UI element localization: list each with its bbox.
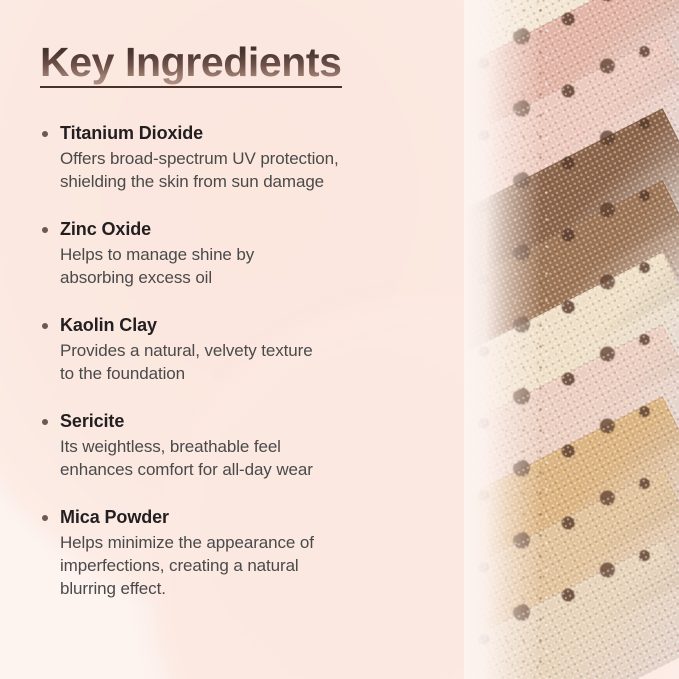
bullet-icon	[42, 419, 48, 425]
ingredient-description: Helps minimize the appearance of imperfe…	[60, 531, 470, 600]
bullet-icon	[42, 227, 48, 233]
ingredient-description: Provides a natural, velvety texture to t…	[60, 339, 470, 385]
ingredient-name: Zinc Oxide	[60, 218, 470, 242]
ingredient-name: Kaolin Clay	[60, 314, 470, 338]
ingredient-item: SericiteIts weightless, breathable feel …	[40, 410, 470, 481]
bullet-icon	[42, 323, 48, 329]
ingredient-name: Titanium Dioxide	[60, 122, 470, 146]
ingredient-name: Mica Powder	[60, 506, 470, 530]
text-column: Key Ingredients Titanium DioxideOffers b…	[40, 0, 470, 600]
bullet-icon	[42, 131, 48, 137]
ingredient-item: Mica PowderHelps minimize the appearance…	[40, 506, 470, 600]
ingredient-name: Sericite	[60, 410, 470, 434]
ingredient-item: Kaolin ClayProvides a natural, velvety t…	[40, 314, 470, 385]
page-title: Key Ingredients	[40, 40, 342, 85]
ingredient-item: Titanium DioxideOffers broad-spectrum UV…	[40, 122, 470, 193]
ingredient-item: Zinc OxideHelps to manage shine by absor…	[40, 218, 470, 289]
ingredient-description: Helps to manage shine by absorbing exces…	[60, 243, 470, 289]
ingredients-infographic: Key Ingredients Titanium DioxideOffers b…	[0, 0, 679, 679]
bullet-icon	[42, 515, 48, 521]
ingredient-description: Its weightless, breathable feel enhances…	[60, 435, 470, 481]
title-underline	[40, 86, 342, 88]
powder-swatch-image	[464, 0, 679, 679]
powder-edge-feather	[464, 0, 542, 679]
ingredient-description: Offers broad-spectrum UV protection, shi…	[60, 147, 470, 193]
page-title-wrapper: Key Ingredients	[40, 40, 342, 88]
ingredient-list: Titanium DioxideOffers broad-spectrum UV…	[40, 122, 470, 600]
